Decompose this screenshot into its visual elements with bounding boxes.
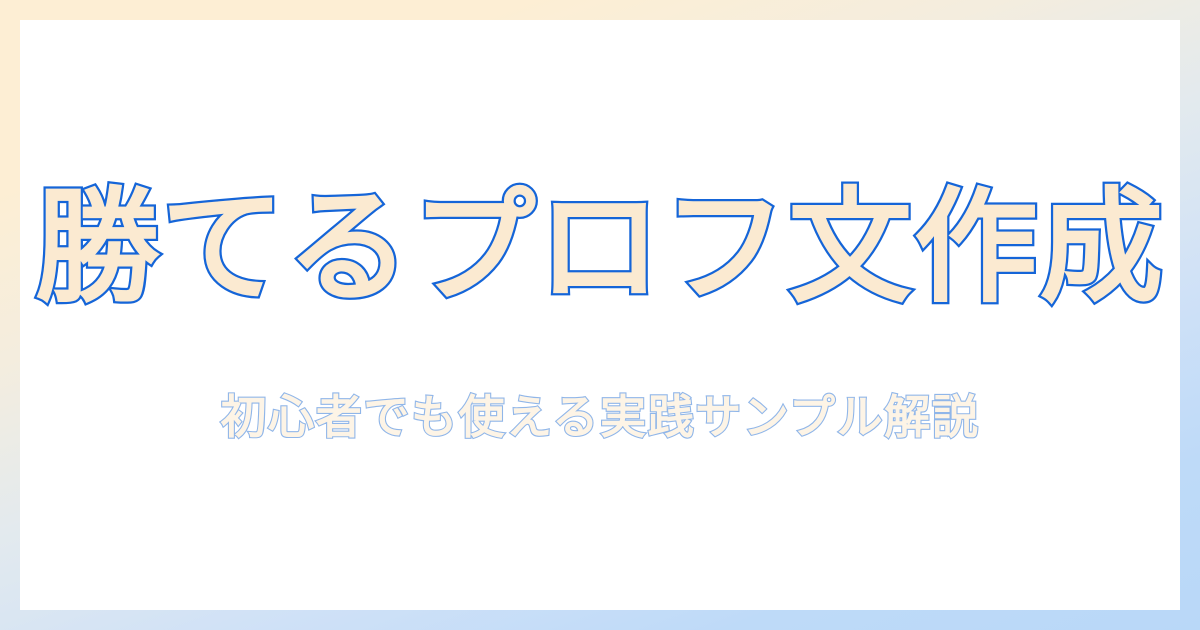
- page-subtitle: 初心者でも使える実践サンプル解説: [20, 392, 1180, 443]
- card-inner: 勝てるプロフ文作成 初心者でも使える実践サンプル解説: [20, 20, 1180, 610]
- content-card: 勝てるプロフ文作成 初心者でも使える実践サンプル解説: [20, 20, 1180, 610]
- page-title: 勝てるプロフ文作成: [20, 182, 1180, 316]
- poster-canvas: 勝てるプロフ文作成 初心者でも使える実践サンプル解説: [0, 0, 1200, 630]
